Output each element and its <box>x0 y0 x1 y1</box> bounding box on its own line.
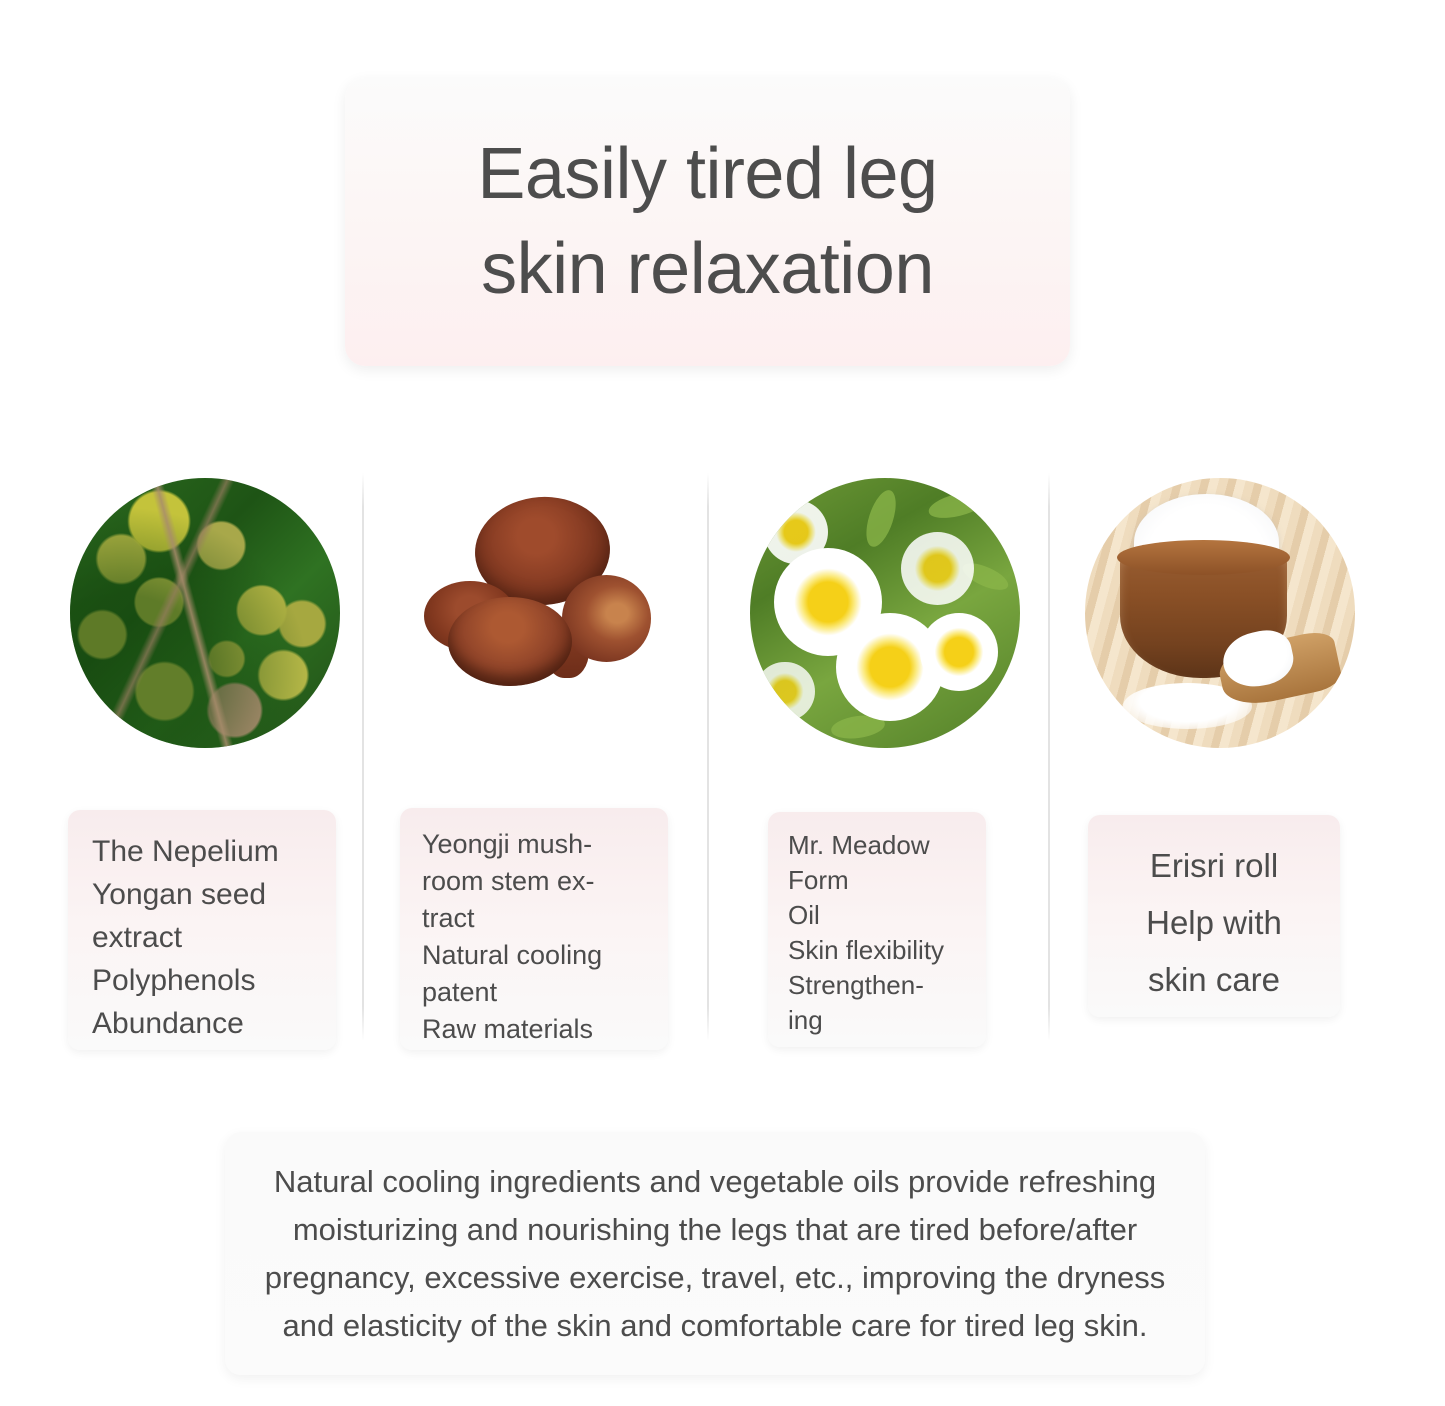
page-title: Easily tired leg skin relaxation <box>477 127 937 317</box>
meadowfoam-image-body <box>750 478 1020 748</box>
ingredient-column-1 <box>60 470 350 748</box>
leaf-blade <box>860 486 901 550</box>
ingredient-card-4: Erisri roll Help with skin care <box>1088 815 1340 1017</box>
ingredient-card-3: Mr. Meadow Form Oil Skin flexibility Str… <box>768 812 986 1047</box>
meadowfoam-flower-photo <box>750 478 1020 748</box>
salt-bowl-image-body <box>1085 478 1355 748</box>
reishi-mushroom-photo <box>405 478 675 748</box>
leaf-blade <box>926 487 989 522</box>
title-card: Easily tired leg skin relaxation <box>345 78 1070 366</box>
ingredient-card-1: The Nepelium Yongan seed extract Polyphe… <box>68 810 336 1050</box>
ingredient-column-4 <box>1075 470 1365 748</box>
longan-fruit-image-body <box>70 478 340 748</box>
flower-bloom <box>901 532 974 605</box>
column-divider-1 <box>362 473 364 1041</box>
mushroom-cap-front <box>448 597 572 686</box>
column-divider-3 <box>1048 473 1050 1041</box>
salt-bowl-photo <box>1085 478 1355 748</box>
wooden-bowl-rim <box>1117 540 1290 575</box>
longan-fruit-photo <box>70 478 340 748</box>
ingredient-column-2 <box>395 470 685 748</box>
description-text: Natural cooling ingredients and vegetabl… <box>255 1158 1175 1350</box>
flower-bloom <box>920 613 998 691</box>
description-card: Natural cooling ingredients and vegetabl… <box>225 1132 1205 1375</box>
ingredient-card-2: Yeongji mush- room stem ex- tract Natura… <box>400 808 668 1050</box>
flower-bloom <box>755 662 814 721</box>
reishi-mushroom-image-body <box>405 478 675 748</box>
ingredient-column-3 <box>740 470 1030 748</box>
mushroom-cap-right <box>562 575 651 661</box>
column-divider-2 <box>707 473 709 1041</box>
